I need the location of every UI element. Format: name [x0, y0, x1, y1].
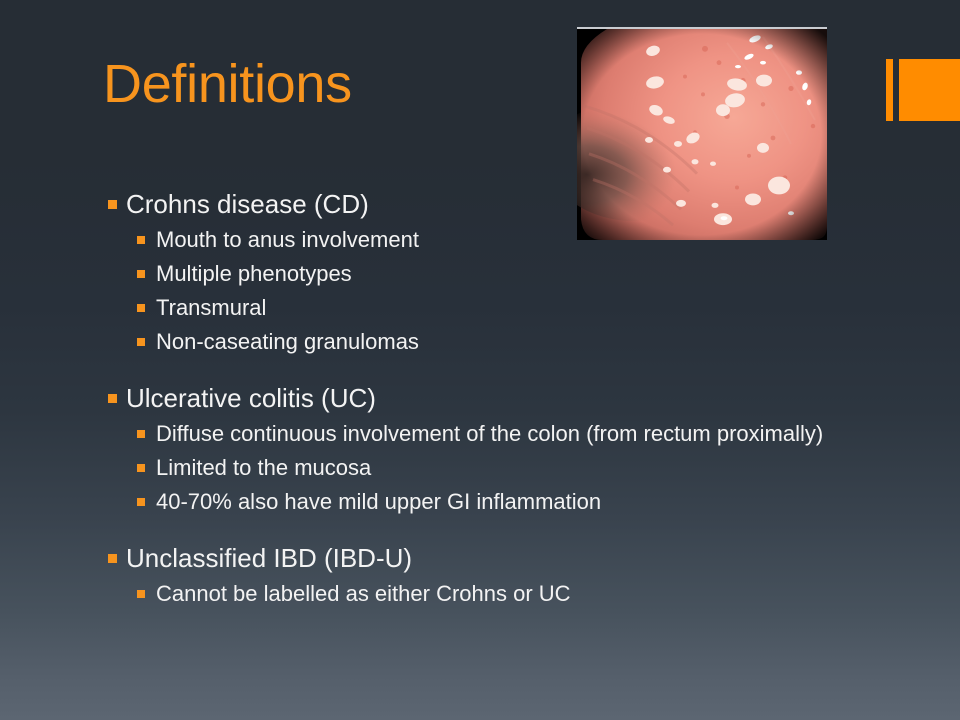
slide-canvas: Definitions — [0, 0, 960, 720]
bullet-label: Ulcerative colitis (UC) — [126, 383, 376, 413]
bullet-label: Crohns disease (CD) — [126, 189, 369, 219]
square-bullet-icon — [137, 270, 145, 278]
bullet-list-level2: Cannot be labelled as either Crohns or U… — [104, 580, 824, 608]
content-group-crohns-disease: Crohns disease (CD) Mouth to anus involv… — [104, 188, 824, 356]
bullet-label: Diffuse continuous involvement of the co… — [156, 421, 823, 446]
bullet-label: Unclassified IBD (IBD-U) — [126, 543, 412, 573]
page-title: Definitions — [103, 56, 352, 113]
bullet-item-level2: Limited to the mucosa — [136, 454, 824, 482]
square-bullet-icon — [137, 498, 145, 506]
bullet-label: Multiple phenotypes — [156, 261, 352, 286]
square-bullet-icon — [137, 304, 145, 312]
bullet-list-level2: Diffuse continuous involvement of the co… — [104, 420, 824, 516]
bullet-item-level2: Transmural — [136, 294, 824, 322]
bullet-label: Limited to the mucosa — [156, 455, 371, 480]
bullet-item-level2: 40-70% also have mild upper GI inflammat… — [136, 488, 824, 516]
square-bullet-icon — [137, 236, 145, 244]
bullet-item-level1: Unclassified IBD (IBD-U) — [104, 542, 824, 574]
square-bullet-icon — [108, 200, 117, 209]
bullet-list-level1: Unclassified IBD (IBD-U) — [104, 542, 824, 574]
accent-thin-bar-icon — [886, 59, 893, 121]
bullet-item-level2: Mouth to anus involvement — [136, 226, 824, 254]
square-bullet-icon — [108, 554, 117, 563]
square-bullet-icon — [137, 590, 145, 598]
bullet-label: Cannot be labelled as either Crohns or U… — [156, 581, 571, 606]
square-bullet-icon — [137, 338, 145, 346]
bullet-list-level1: Crohns disease (CD) — [104, 188, 824, 220]
slide-body: Crohns disease (CD) Mouth to anus involv… — [104, 188, 824, 608]
section-spacer — [104, 516, 824, 542]
section-spacer — [104, 356, 824, 382]
bullet-list-level1: Ulcerative colitis (UC) — [104, 382, 824, 414]
accent-block-icon — [899, 59, 960, 121]
bullet-item-level2: Cannot be labelled as either Crohns or U… — [136, 580, 824, 608]
content-group-ulcerative-colitis: Ulcerative colitis (UC) Diffuse continuo… — [104, 382, 824, 516]
square-bullet-icon — [137, 430, 145, 438]
bullet-item-level2: Diffuse continuous involvement of the co… — [136, 420, 824, 448]
bullet-item-level1: Ulcerative colitis (UC) — [104, 382, 824, 414]
square-bullet-icon — [108, 394, 117, 403]
bullet-label: Transmural — [156, 295, 266, 320]
bullet-label: Mouth to anus involvement — [156, 227, 419, 252]
bullet-item-level1: Crohns disease (CD) — [104, 188, 824, 220]
bullet-list-level2: Mouth to anus involvement Multiple pheno… — [104, 226, 824, 356]
bullet-label: Non-caseating granulomas — [156, 329, 419, 354]
bullet-label: 40-70% also have mild upper GI inflammat… — [156, 489, 601, 514]
bullet-item-level2: Non-caseating granulomas — [136, 328, 824, 356]
content-group-unclassified-ibd: Unclassified IBD (IBD-U) Cannot be label… — [104, 542, 824, 608]
bullet-item-level2: Multiple phenotypes — [136, 260, 824, 288]
square-bullet-icon — [137, 464, 145, 472]
